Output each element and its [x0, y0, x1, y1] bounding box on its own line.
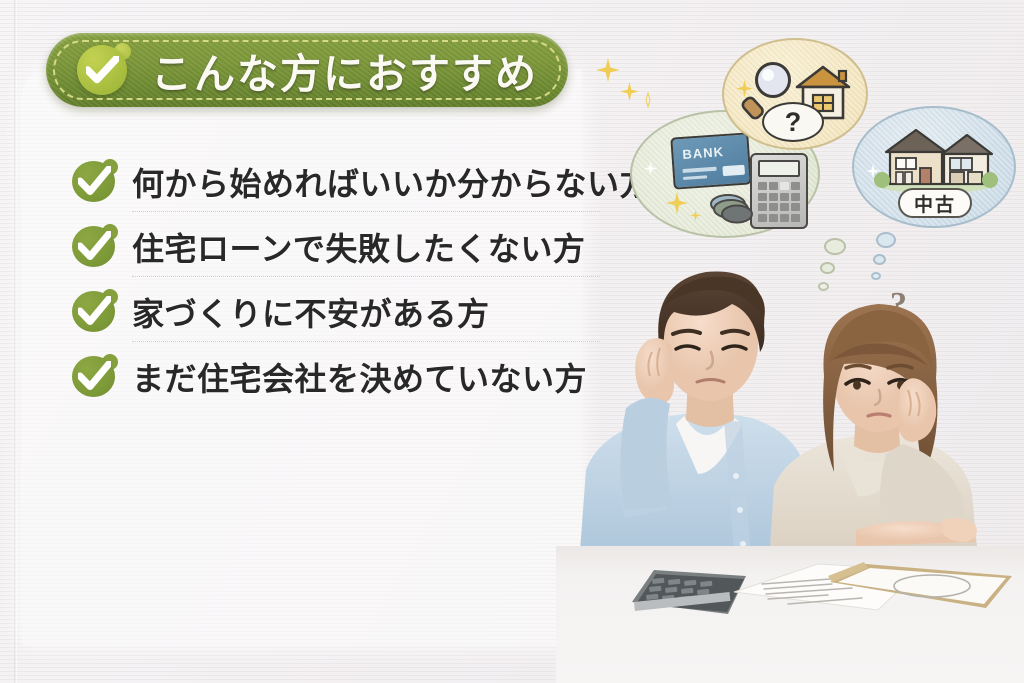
list-item[interactable]: 何から始めればいいか分からない方 — [72, 152, 592, 212]
man-hand — [635, 338, 674, 404]
check-tick-icon — [78, 361, 111, 391]
check-badge-nib — [114, 43, 131, 60]
couple-illustration — [556, 248, 1024, 578]
check-circle-icon — [72, 289, 120, 335]
calculator-display — [758, 160, 800, 177]
check-badge-disc — [77, 45, 127, 95]
list-item-label: 家づくりに不安がある方 — [132, 289, 490, 335]
check-badge-icon — [77, 45, 127, 95]
list-item[interactable]: 家づくりに不安がある方 — [72, 282, 592, 342]
two-story-house-icon — [872, 122, 998, 192]
bank-card-label: BANK — [682, 144, 725, 162]
used-badge: 中古 — [898, 188, 972, 218]
list-divider — [132, 211, 600, 212]
question-mark-icon: ? — [762, 102, 824, 142]
sparkle-icon — [736, 80, 753, 97]
bubble-tail-dot — [876, 232, 896, 248]
recommendation-checklist: 何から始めればいいか分からない方 住宅ローンで失敗したくない方 — [72, 152, 592, 407]
list-item-label: まだ住宅会社を決めていない方 — [132, 354, 587, 400]
check-circle-icon — [72, 159, 120, 205]
sparkle-outline-icon — [642, 92, 654, 108]
check-tick-icon — [78, 166, 111, 196]
sparkle-icon — [666, 192, 688, 214]
check-badge-tick-icon — [86, 56, 119, 84]
desk-surface — [556, 546, 1024, 683]
worried-couple-photo — [556, 248, 1024, 578]
check-tick-icon — [78, 231, 111, 261]
bank-card-chip — [722, 165, 745, 177]
calculator-keypad — [758, 182, 800, 222]
list-item-label: 何から始めればいいか分からない方 — [132, 159, 652, 205]
left-edge-seam — [14, 0, 17, 683]
sparkle-icon — [620, 82, 639, 101]
check-circle-icon — [72, 354, 120, 400]
used-house-bubble: 中古 — [852, 106, 1016, 228]
sparkle-icon — [690, 210, 701, 221]
list-item[interactable]: まだ住宅会社を決めていない方 — [72, 347, 592, 407]
search-house-bubble: ? — [722, 38, 868, 150]
check-tick-icon — [78, 296, 111, 326]
used-badge-label: 中古 — [914, 190, 956, 217]
banner-title: こんな方におすすめ — [151, 40, 538, 100]
sparkle-icon — [866, 164, 880, 178]
question-mark-label: ? — [785, 109, 802, 136]
coins-icon — [708, 192, 760, 224]
list-item-label: 住宅ローンで失敗したくない方 — [132, 224, 585, 270]
list-divider — [132, 276, 600, 277]
sparkle-icon — [644, 162, 657, 175]
check-circle-icon — [72, 224, 120, 270]
desk-clipboard — [826, 560, 1016, 614]
poster-canvas: こんな方におすすめ 何から始めればいいか分からない方 — [0, 0, 1024, 683]
bank-card-stripe — [683, 175, 707, 180]
bank-card-stripe — [682, 167, 716, 173]
list-item[interactable]: 住宅ローンで失敗したくない方 — [72, 217, 592, 277]
sparkle-icon — [596, 58, 620, 82]
headline-banner: こんな方におすすめ — [46, 33, 568, 107]
list-divider — [132, 341, 600, 342]
